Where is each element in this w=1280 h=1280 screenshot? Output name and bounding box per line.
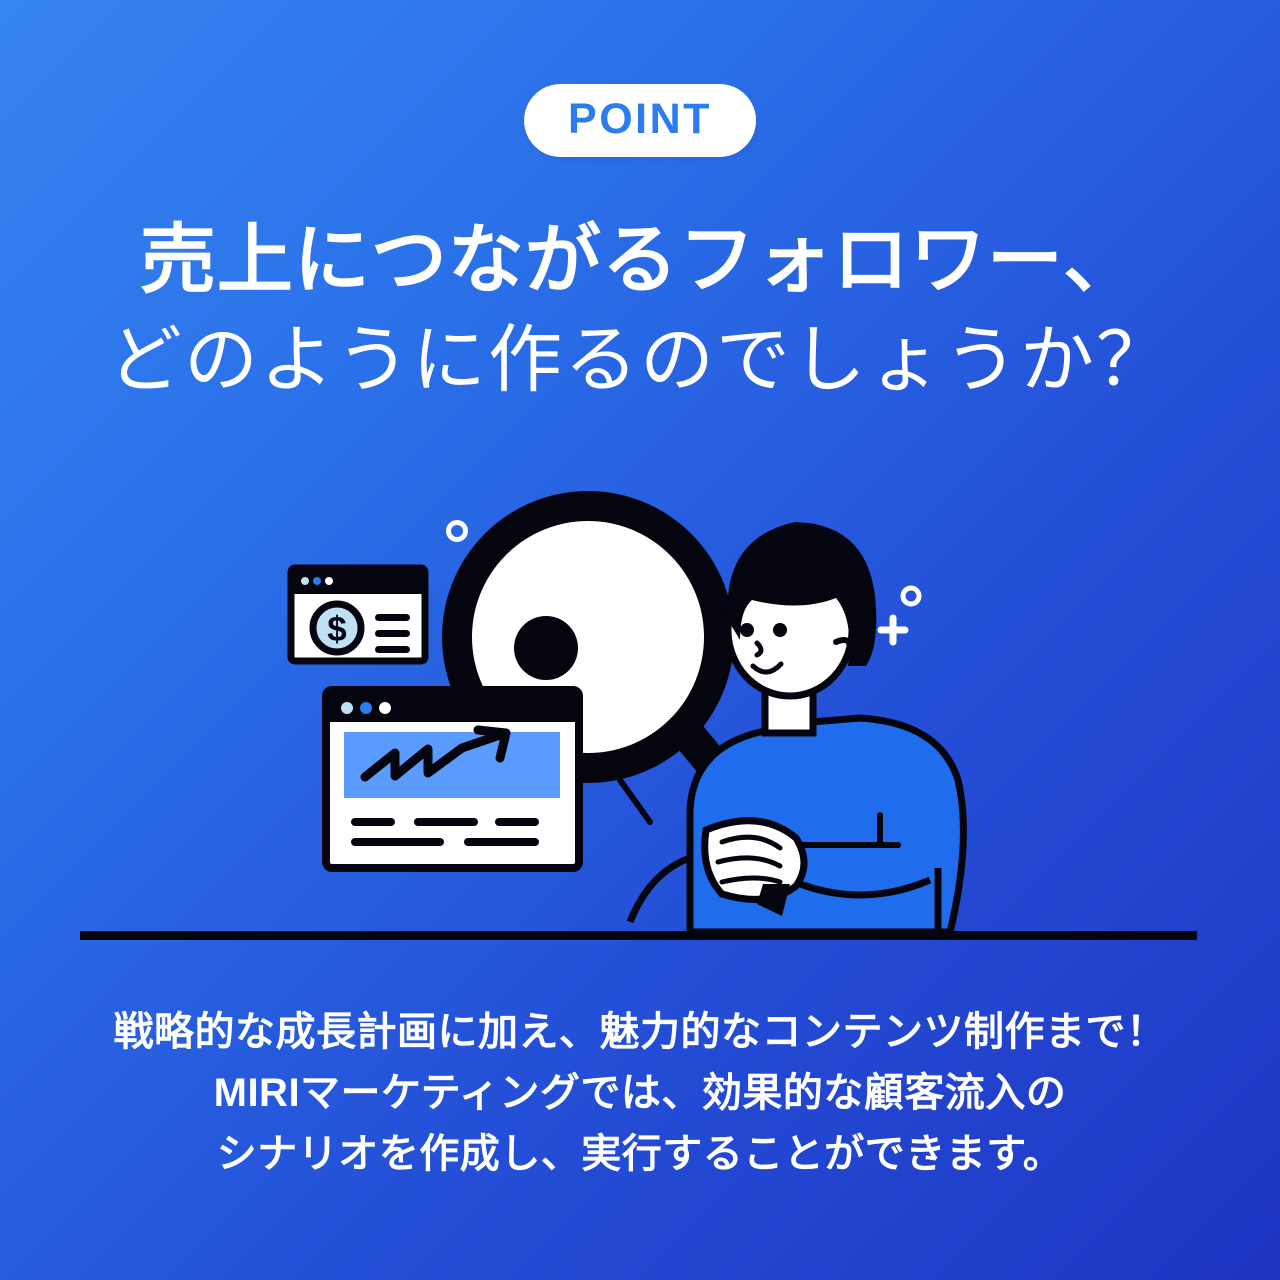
window-dot-2-icon <box>313 577 321 585</box>
chart-card-text-line <box>414 818 478 826</box>
chart-card-text-line <box>464 838 539 846</box>
chart-card-text-line <box>495 818 539 826</box>
window-dot-1-icon <box>341 702 353 714</box>
headline-line-1: 売上につながるフォロワー、 <box>0 215 1280 308</box>
point-badge-label: POINT <box>568 98 712 141</box>
money-card-text-line <box>375 614 410 621</box>
money-card-text-line <box>375 646 410 653</box>
magnifier-pupil-icon <box>514 616 578 680</box>
bottom-copy-line-3: シナリオを作成し、実行することができます。 <box>0 1124 1280 1185</box>
illustration: $ <box>0 480 1280 950</box>
bottom-copy: 戦略的な成長計画に加え、魅力的なコンテンツ制作まで！ MIRIマーケティングでは… <box>0 1002 1280 1184</box>
money-card-window: $ <box>291 568 425 661</box>
window-dot-2-icon <box>360 702 372 714</box>
headline: 売上につながるフォロワー、 どのように作るのでしょうか？ <box>0 215 1280 408</box>
sparkle-ring-icon <box>903 588 919 604</box>
sparkle-ring-icon <box>449 523 466 540</box>
chart-card-window <box>326 690 579 868</box>
eye-icon <box>740 623 754 637</box>
bottom-copy-line-1: 戦略的な成長計画に加え、魅力的なコンテンツ制作まで！ <box>0 1002 1280 1063</box>
bottom-copy-line-2: MIRIマーケティングでは、効果的な顧客流入の <box>0 1063 1280 1124</box>
poster-canvas: POINT 売上につながるフォロワー、 どのように作るのでしょうか？ $ <box>0 0 1280 1280</box>
sparkle-plus-icon <box>881 618 905 642</box>
window-dot-3-icon <box>379 702 391 714</box>
money-card-text-line <box>375 630 410 637</box>
window-dot-3-icon <box>325 577 333 585</box>
chart-card-text-line <box>351 818 395 826</box>
section-divider <box>80 931 1197 940</box>
headline-line-2: どのように作るのでしょうか？ <box>0 312 1280 408</box>
chart-card-text-line <box>351 838 444 846</box>
window-dot-1-icon <box>301 577 309 585</box>
point-badge: POINT <box>524 84 756 157</box>
eye-icon <box>773 623 787 637</box>
dollar-symbol: $ <box>327 610 346 649</box>
